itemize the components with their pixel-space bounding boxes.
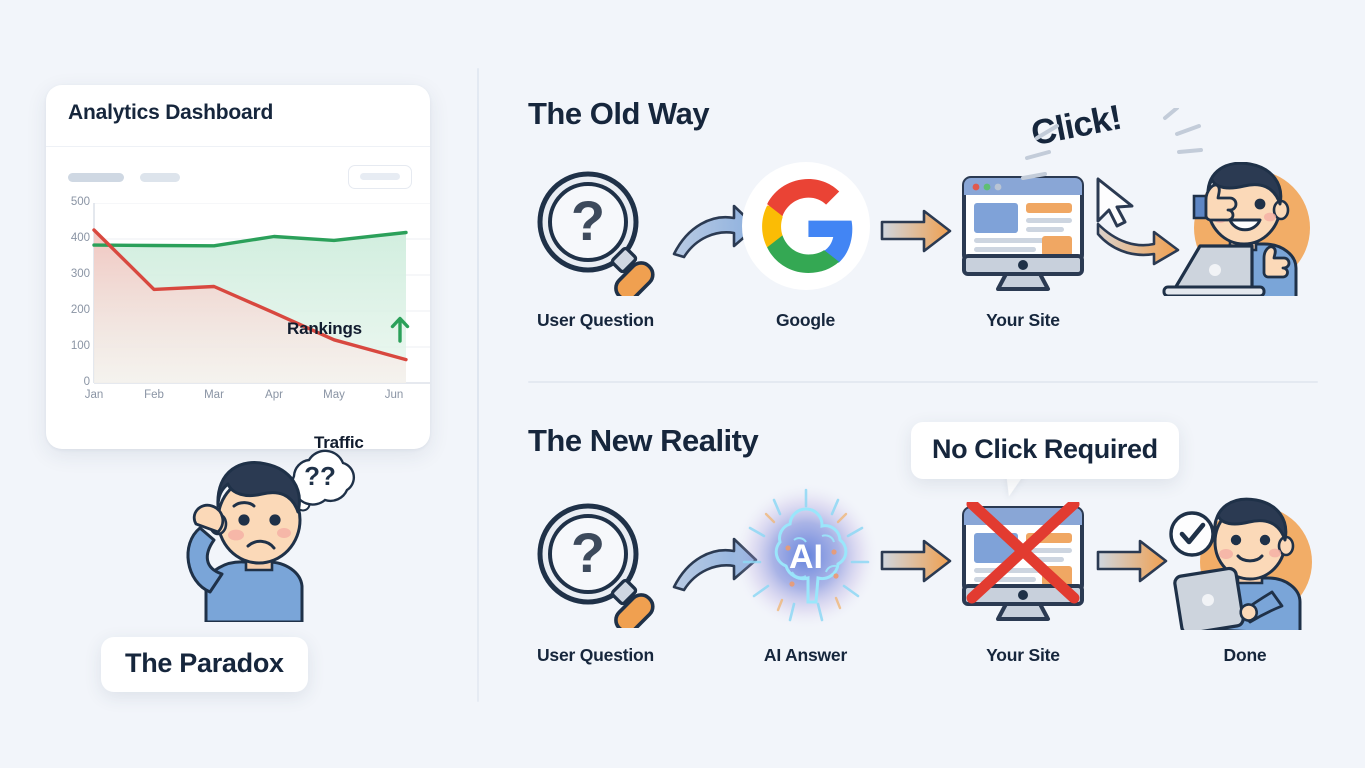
card-body: 500 400 300 200 100 0 <box>46 147 430 447</box>
orange-arrow-icon <box>880 208 952 254</box>
x-tick-jan: Jan <box>72 389 116 401</box>
skeleton-toolbar <box>68 169 412 191</box>
analytics-dashboard-card: Analytics Dashboard 500 400 300 200 100 … <box>46 85 430 449</box>
skeleton-button[interactable] <box>348 165 412 189</box>
ai-brain-icon: AI <box>730 480 882 632</box>
magnifier-question-icon: ? <box>528 168 662 296</box>
skeleton-pill-secondary <box>140 173 180 182</box>
section-title-old-way: The Old Way <box>528 96 709 132</box>
ai-brain-text: AI <box>789 538 823 576</box>
flow-label-user-question-old: User Question <box>518 310 673 331</box>
flow-label-done: Done <box>1190 645 1300 666</box>
monitor-crossed-out-icon <box>958 502 1088 624</box>
orange-arrow-icon <box>1096 538 1168 584</box>
happy-person-laptop-icon <box>1160 162 1318 296</box>
x-tick-may: May <box>312 389 356 401</box>
line-chart: 500 400 300 200 100 0 <box>46 203 430 443</box>
orange-arrow-icon <box>880 538 952 584</box>
magnifier-question-icon: ? <box>528 500 662 628</box>
question-mark-glyph: ? <box>571 521 605 584</box>
skeleton-pill-primary <box>68 173 124 182</box>
person-tablet-check-icon <box>1168 496 1318 630</box>
flow-label-google: Google <box>743 310 868 331</box>
flow-label-ai-answer: AI Answer <box>743 645 868 666</box>
x-tick-apr: Apr <box>252 389 296 401</box>
flow-label-your-site-new: Your Site <box>963 645 1083 666</box>
page-title: Analytics Dashboard <box>68 101 430 125</box>
section-title-new-reality: The New Reality <box>528 423 758 459</box>
card-header: Analytics Dashboard <box>46 85 430 147</box>
flow-label-your-site-old: Your Site <box>963 310 1083 331</box>
paradox-label: The Paradox <box>101 637 308 692</box>
google-g-icon <box>738 158 874 294</box>
trend-up-arrow-icon <box>389 316 411 344</box>
x-tick-jun: Jun <box>372 389 416 401</box>
x-tick-mar: Mar <box>192 389 236 401</box>
monitor-website-icon <box>958 172 1088 294</box>
vertical-divider <box>477 68 479 702</box>
thought-bubble-text: ?? <box>304 461 336 491</box>
x-tick-feb: Feb <box>132 389 176 401</box>
flow-label-user-question-new: User Question <box>518 645 673 666</box>
no-click-required-callout: No Click Required <box>911 422 1179 479</box>
question-mark-glyph: ? <box>571 189 605 252</box>
chart-plot-area <box>46 203 430 403</box>
horizontal-divider <box>528 381 1318 383</box>
series-label-rankings: Rankings <box>287 319 362 339</box>
infographic-canvas: Analytics Dashboard 500 400 300 200 100 … <box>0 0 1365 768</box>
confused-person-icon: ?? <box>170 432 370 622</box>
